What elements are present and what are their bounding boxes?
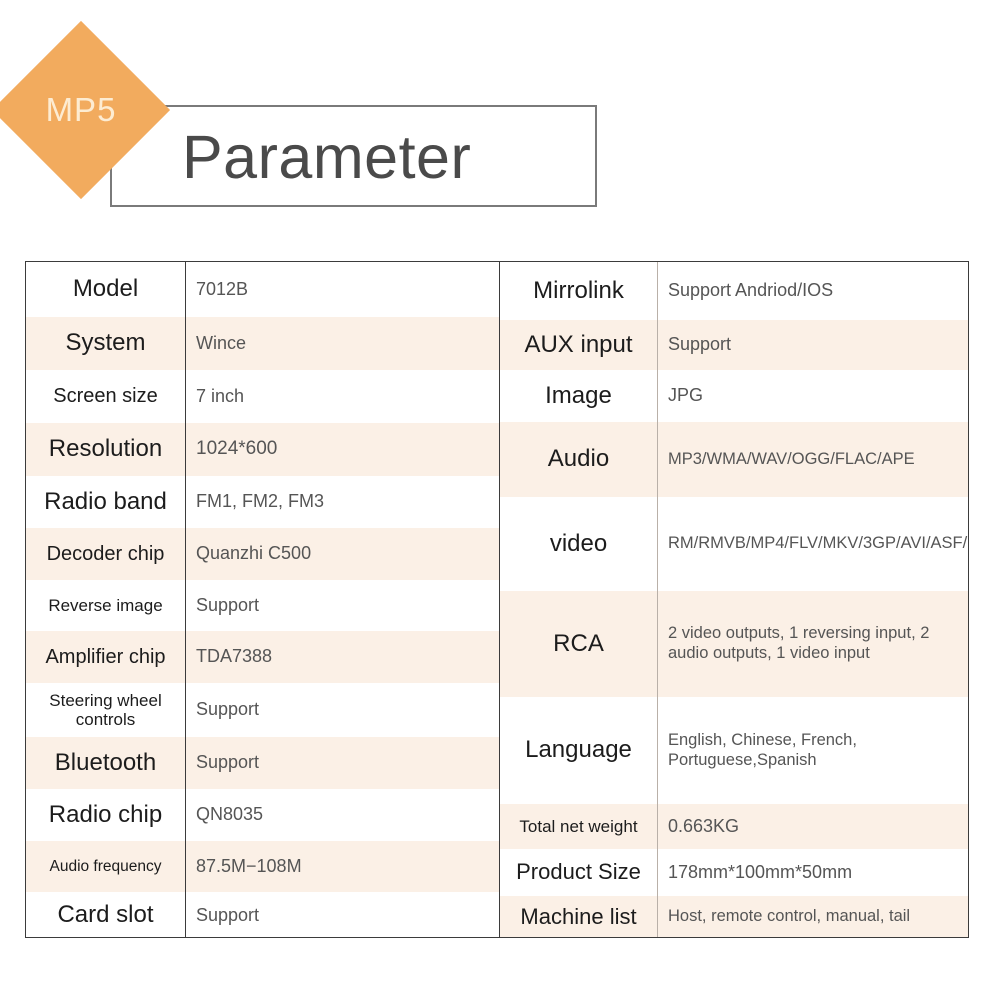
spec-label: Resolution — [26, 423, 186, 476]
spec-label: Screen size — [26, 370, 186, 423]
spec-value: Support Andriod/IOS — [658, 262, 966, 320]
spec-value: Support — [186, 737, 498, 789]
spec-row: Decoder chipQuanzhi C500 — [26, 528, 499, 580]
spec-label: Machine list — [500, 896, 658, 937]
mp5-badge-label: MP5 — [18, 47, 144, 173]
spec-table-left: Model7012BSystemWinceScreen size7 inchRe… — [26, 262, 500, 937]
spec-row: Audio frequency87.5M−108M — [26, 841, 499, 892]
spec-value: Support — [186, 580, 498, 631]
spec-row: Resolution1024*600 — [26, 423, 499, 476]
spec-label: Model — [26, 262, 186, 317]
spec-label: Total net weight — [500, 804, 658, 849]
spec-value: MP3/WMA/WAV/OGG/FLAC/APE — [658, 422, 966, 497]
spec-value: 2 video outputs, 1 reversing input, 2 au… — [658, 591, 966, 697]
page-title: Parameter — [182, 112, 602, 202]
spec-label: Bluetooth — [26, 737, 186, 789]
spec-row: AudioMP3/WMA/WAV/OGG/FLAC/APE — [500, 422, 968, 497]
spec-value: TDA7388 — [186, 631, 498, 683]
spec-value: 1024*600 — [186, 423, 498, 476]
spec-label: RCA — [500, 591, 658, 697]
spec-label: Image — [500, 370, 658, 422]
spec-value: 178mm*100mm*50mm — [658, 849, 966, 896]
spec-row: Steering wheel controlsSupport — [26, 683, 499, 737]
spec-value: 0.663KG — [658, 804, 966, 849]
spec-row: Reverse imageSupport — [26, 580, 499, 631]
spec-label: AUX input — [500, 320, 658, 370]
spec-value: 7 inch — [186, 370, 498, 423]
spec-value: 7012B — [186, 262, 498, 317]
spec-value: Quanzhi C500 — [186, 528, 498, 580]
spec-row: SystemWince — [26, 317, 499, 370]
spec-value: Support — [186, 892, 498, 937]
spec-value: English, Chinese, French, Portuguese,Spa… — [658, 697, 966, 804]
spec-label: video — [500, 497, 658, 591]
spec-row: ImageJPG — [500, 370, 968, 422]
spec-row: Amplifier chipTDA7388 — [26, 631, 499, 683]
spec-row: Machine listHost, remote control, manual… — [500, 896, 968, 937]
page-header: MP5 Parameter — [0, 0, 995, 250]
spec-label: Amplifier chip — [26, 631, 186, 683]
spec-row: Model7012B — [26, 262, 499, 317]
spec-label: Decoder chip — [26, 528, 186, 580]
spec-row: videoRM/RMVB/MP4/FLV/MKV/3GP/AVI/ASF/SWF… — [500, 497, 968, 591]
spec-label: Steering wheel controls — [26, 683, 186, 737]
specification-tables: Model7012BSystemWinceScreen size7 inchRe… — [25, 261, 969, 938]
spec-label: Audio frequency — [26, 841, 186, 892]
spec-label: Mirrolink — [500, 262, 658, 320]
spec-value: JPG — [658, 370, 966, 422]
spec-row: Total net weight0.663KG — [500, 804, 968, 849]
spec-row: Product Size178mm*100mm*50mm — [500, 849, 968, 896]
spec-row: BluetoothSupport — [26, 737, 499, 789]
spec-label: Product Size — [500, 849, 658, 896]
spec-row: Radio bandFM1, FM2, FM3 — [26, 476, 499, 528]
spec-label: Language — [500, 697, 658, 804]
spec-row: LanguageEnglish, Chinese, French, Portug… — [500, 697, 968, 804]
spec-row: Radio chipQN8035 — [26, 789, 499, 841]
spec-value: Support — [658, 320, 966, 370]
spec-row: AUX inputSupport — [500, 320, 968, 370]
spec-value: Wince — [186, 317, 498, 370]
spec-row: RCA2 video outputs, 1 reversing input, 2… — [500, 591, 968, 697]
spec-label: Card slot — [26, 892, 186, 937]
spec-value: FM1, FM2, FM3 — [186, 476, 498, 528]
spec-label: Audio — [500, 422, 658, 497]
spec-row: MirrolinkSupport Andriod/IOS — [500, 262, 968, 320]
spec-value: Host, remote control, manual, tail — [658, 896, 966, 937]
spec-table-right: MirrolinkSupport Andriod/IOSAUX inputSup… — [500, 262, 968, 937]
spec-label: System — [26, 317, 186, 370]
spec-label: Radio band — [26, 476, 186, 528]
spec-row: Card slotSupport — [26, 892, 499, 937]
spec-value: 87.5M−108M — [186, 841, 498, 892]
spec-row: Screen size7 inch — [26, 370, 499, 423]
spec-value: QN8035 — [186, 789, 498, 841]
spec-value: Support — [186, 683, 498, 737]
spec-label: Reverse image — [26, 580, 186, 631]
spec-value: RM/RMVB/MP4/FLV/MKV/3GP/AVI/ASF/SWFMP1/M… — [658, 497, 966, 591]
spec-label: Radio chip — [26, 789, 186, 841]
